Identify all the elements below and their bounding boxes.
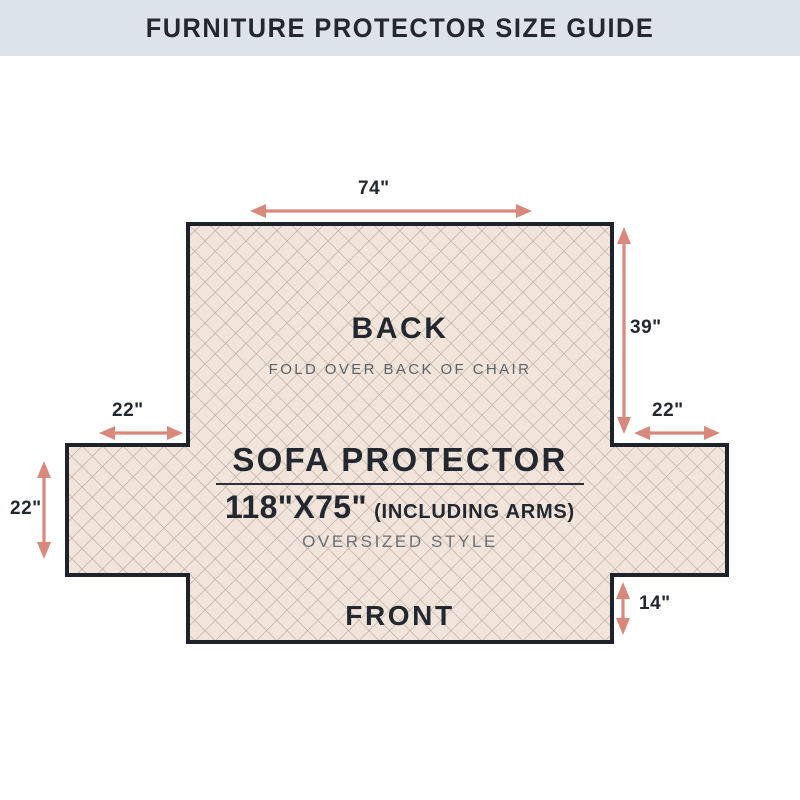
protector-title: SOFA PROTECTOR [140, 442, 660, 478]
dim-arrow-right-arm-width [634, 426, 720, 440]
dim-label-back-height: 39" [630, 317, 662, 339]
protector-shape-diagram [0, 56, 800, 800]
dim-label-front-skirt-height: 14" [639, 593, 671, 615]
dim-arrow-back-height [617, 227, 631, 434]
front-panel-label: FRONT [188, 600, 612, 632]
diagram-stage: BACK FOLD OVER BACK OF CHAIR SOFA PROTEC… [0, 56, 800, 800]
overall-dimensions: 118"X75" [225, 489, 367, 525]
dimensions-note: (INCLUDING ARMS) [374, 501, 575, 523]
back-panel-label: BACK [188, 312, 612, 346]
dim-label-left-arm-width: 22" [112, 400, 144, 422]
center-panel-text: SOFA PROTECTOR 118"X75"(INCLUDING ARMS) … [140, 442, 660, 552]
dim-label-arm-height: 22" [10, 498, 42, 520]
dim-label-right-arm-width: 22" [652, 400, 684, 422]
dim-label-back-width: 74" [358, 178, 390, 200]
back-panel-sublabel: FOLD OVER BACK OF CHAIR [188, 361, 612, 378]
dim-arrow-front-skirt-height [616, 582, 630, 635]
size-guide-page: FURNITURE PROTECTOR SIZE GUIDE [0, 0, 800, 800]
dim-arrow-back-width [250, 204, 532, 218]
style-label: OVERSIZED STYLE [140, 532, 660, 552]
title-underline [216, 483, 584, 485]
dim-arrow-left-arm-width [99, 426, 183, 440]
page-title: FURNITURE PROTECTOR SIZE GUIDE [24, 0, 776, 56]
dimensions-row: 118"X75"(INCLUDING ARMS) [140, 491, 660, 523]
